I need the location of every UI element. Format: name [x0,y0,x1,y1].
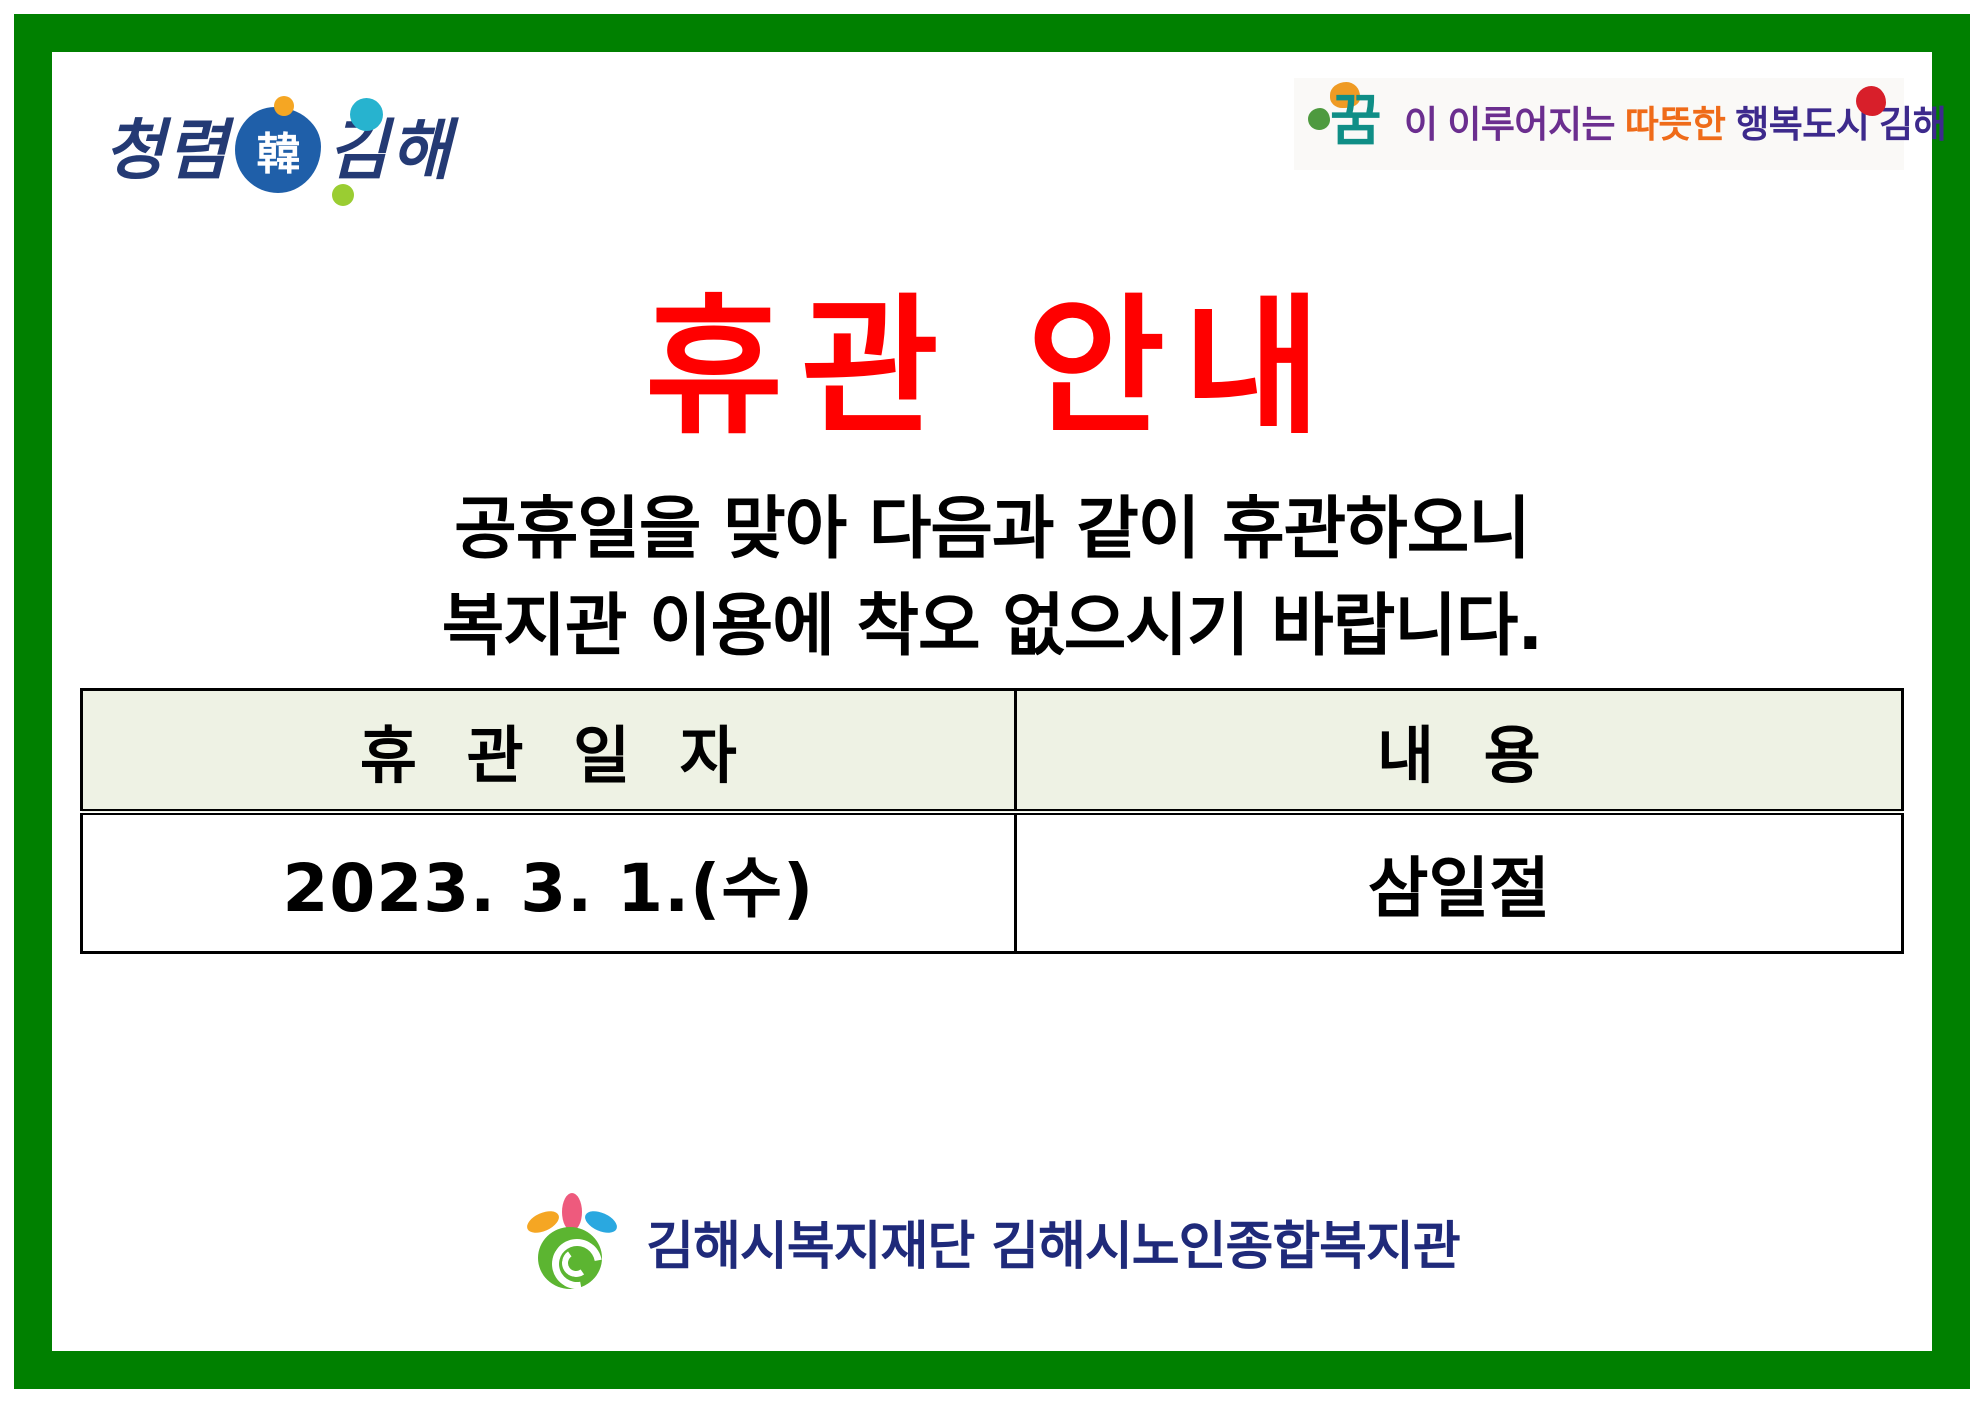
table-header-row: 휴 관 일 자 내 용 [82,690,1903,813]
pink-petal-icon [562,1193,582,1231]
green-border-frame: 청렴 韓 김해 꿈 이 이루어지는 따뜻한 행복도시 김해 [14,14,1970,1389]
paragraph-line-2: 복지관 이용에 착오 없으시기 바랍니다. [52,579,1932,676]
poster-content: 청렴 韓 김해 꿈 이 이루어지는 따뜻한 행복도시 김해 [52,52,1932,1351]
column-header-date: 휴 관 일 자 [82,690,1016,813]
poster-header: 청렴 韓 김해 꿈 이 이루어지는 따뜻한 행복도시 김해 [52,52,1932,242]
closure-table-wrapper: 휴 관 일 자 내 용 2023. 3. 1.(수) 삼일절 [80,688,1904,954]
poster-footer: 김해시복지재단 김해시노인종합복지관 [52,1193,1932,1289]
slogan-part-2: 따뜻한 [1625,104,1735,145]
column-header-content: 내 용 [1015,690,1902,813]
notice-paragraph: 공휴일을 맞아 다음과 같이 휴관하오니 복지관 이용에 착오 없으시기 바랍니… [52,482,1932,675]
logo-text-after: 김해 [327,117,452,183]
logo-text-before: 청렴 [104,117,229,183]
cell-closure-date: 2023. 3. 1.(수) [82,812,1016,953]
organization-name: 김해시복지재단 김해시노인종합복지관 [646,1204,1459,1279]
city-slogan-banner: 꿈 이 이루어지는 따뜻한 행복도시 김해 [1294,78,1904,170]
orange-dot-icon [274,96,294,116]
slogan-part-3: 행복도시 김해 [1735,104,1946,145]
gimhae-integrity-logo: 청렴 韓 김해 [104,90,453,210]
han-seal-icon: 韓 [235,107,321,193]
lime-dot-icon [332,184,354,206]
cell-closure-reason: 삼일절 [1015,812,1902,953]
page-title: 휴관 안내 [52,284,1932,452]
green-blob-icon [1308,108,1330,130]
dream-character: 꿈 [1330,94,1382,150]
slogan-part-1: 이 이루어지는 [1404,104,1625,145]
paragraph-line-1: 공휴일을 맞아 다음과 같이 휴관하오니 [52,482,1932,579]
table-row: 2023. 3. 1.(수) 삼일절 [82,812,1903,953]
welfare-foundation-logo-icon [524,1193,620,1289]
red-seal-icon [1856,86,1886,116]
teal-dot-icon [350,98,383,131]
dream-glyph-icon: 꿈 [1308,84,1404,164]
closure-table: 휴 관 일 자 내 용 2023. 3. 1.(수) 삼일절 [80,688,1904,954]
notice-poster: 청렴 韓 김해 꿈 이 이루어지는 따뜻한 행복도시 김해 [0,0,1984,1403]
